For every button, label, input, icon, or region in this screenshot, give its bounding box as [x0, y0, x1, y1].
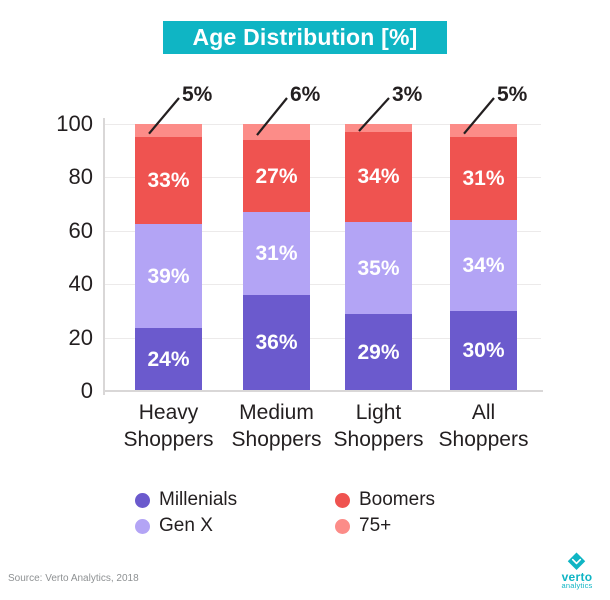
legend-swatch-icon [135, 493, 150, 508]
legend-label: Millenials [159, 489, 237, 511]
legend-label: Gen X [159, 515, 213, 537]
legend-item[interactable]: Millenials [135, 489, 335, 511]
legend-item[interactable]: 75+ [335, 515, 495, 537]
legend-item[interactable]: Boomers [335, 489, 495, 511]
source-note: Source: Verto Analytics, 2018 [8, 573, 139, 584]
verto-analytics-logo: verto analytics [551, 552, 603, 592]
legend-item[interactable]: Gen X [135, 515, 335, 537]
legend-label: Boomers [359, 489, 435, 511]
logo-tagline: analytics [551, 582, 603, 590]
legend-label: 75+ [359, 515, 391, 537]
diamond-check-icon [567, 552, 586, 571]
legend-swatch-icon [135, 519, 150, 534]
legend-swatch-icon [335, 493, 350, 508]
legend-swatch-icon [335, 519, 350, 534]
callout-label: 5% [497, 83, 527, 107]
chart-legend: MillenialsBoomersGen X75+ [135, 487, 495, 539]
